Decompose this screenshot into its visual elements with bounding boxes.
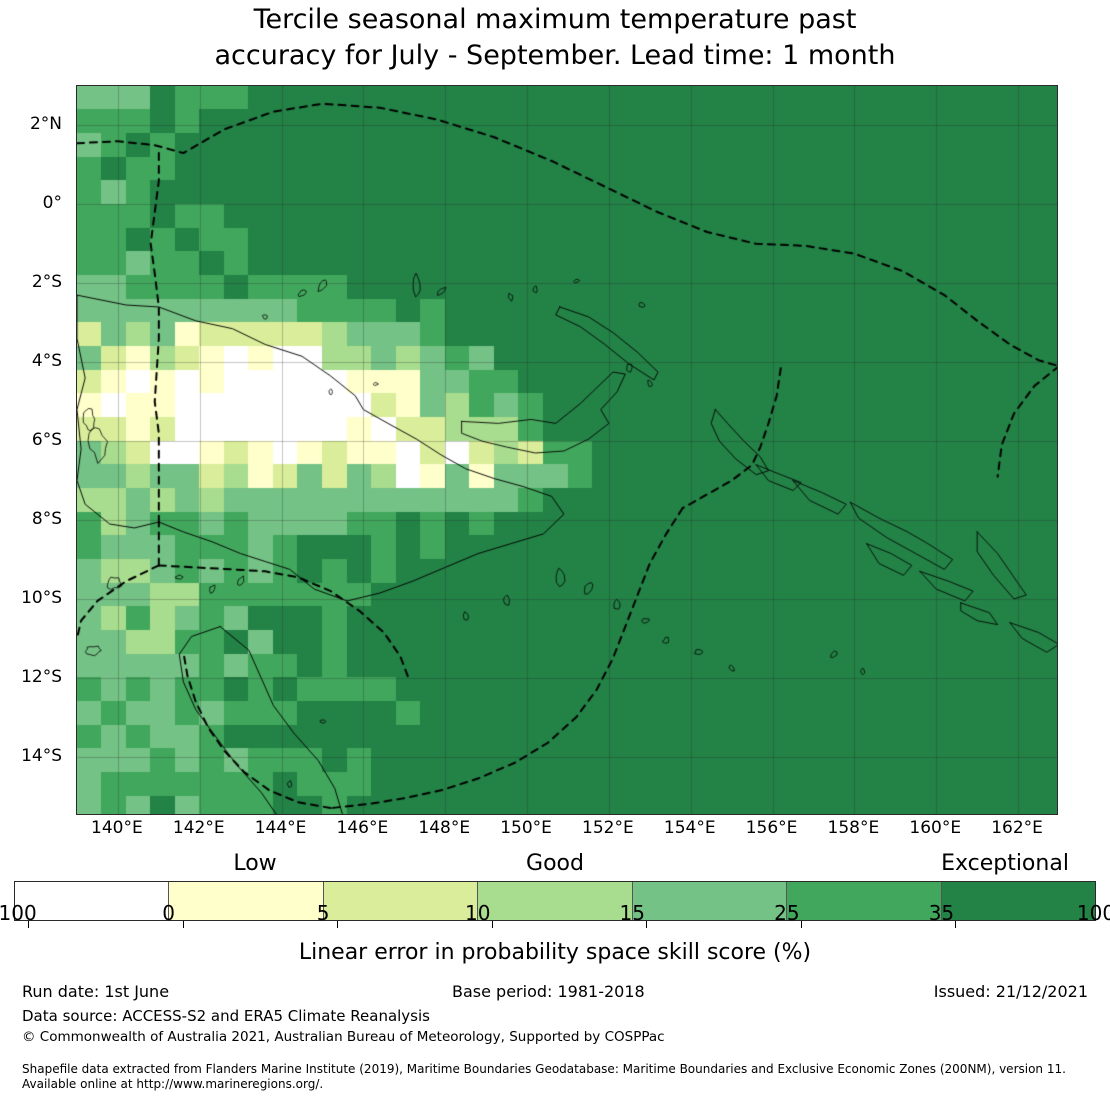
longitude-tick-label: 148°E bbox=[399, 820, 489, 837]
page-title-line-1: Tercile seasonal maximum temperature pas… bbox=[0, 2, 1110, 38]
latitude-tick-label: 0° bbox=[43, 195, 62, 212]
longitude-tick-label: 160°E bbox=[890, 820, 980, 837]
longitude-tick-label: 158°E bbox=[808, 820, 898, 837]
longitude-tick-label: 142°E bbox=[154, 820, 244, 837]
page-title: Tercile seasonal maximum temperature pas… bbox=[0, 2, 1110, 74]
colorbar-tick-label: 10 bbox=[433, 903, 523, 923]
colorbar-tick-label: 0 bbox=[124, 903, 214, 923]
latitude-tick-label: 14°S bbox=[21, 748, 62, 765]
longitude-tick-label: 152°E bbox=[563, 820, 653, 837]
map-plot-frame[interactable] bbox=[76, 85, 1058, 815]
latitude-tick-label: 6°S bbox=[32, 432, 62, 449]
longitude-tick-label: 150°E bbox=[481, 820, 571, 837]
longitude-tick-label: 140°E bbox=[72, 820, 162, 837]
latitude-tick-label: 10°S bbox=[21, 590, 62, 607]
longitude-tick-label: 154°E bbox=[645, 820, 735, 837]
colorbar-category-good: Good bbox=[445, 853, 665, 875]
colorbar-category-low: Low bbox=[145, 853, 365, 875]
footer-issued-date: Issued: 21/12/2021 bbox=[934, 983, 1088, 1001]
longitude-tick-label: 144°E bbox=[236, 820, 326, 837]
colorbar-tick-label: 35 bbox=[896, 903, 986, 923]
latitude-tick-label: 2°N bbox=[30, 116, 62, 133]
colorbar-tick-label: 15 bbox=[587, 903, 677, 923]
footer: Run date: 1st June Base period: 1981-201… bbox=[0, 975, 1110, 1110]
longitude-tick-label: 156°E bbox=[727, 820, 817, 837]
colorbar-tick-label: 100 bbox=[1051, 903, 1110, 923]
colorbar-axis-label: Linear error in probability space skill … bbox=[0, 940, 1110, 966]
map-gridlines bbox=[77, 86, 1058, 815]
footer-shapefile-attribution-line-2: Available online at http://www.marinereg… bbox=[22, 1077, 323, 1091]
longitude-tick-label: 162°E bbox=[972, 820, 1062, 837]
footer-copyright: © Commonwealth of Australia 2021, Austra… bbox=[22, 1030, 665, 1045]
colorbar-tick-label: 5 bbox=[278, 903, 368, 923]
colorbar-tick-label: 25 bbox=[742, 903, 832, 923]
colorbar-category-exceptional: Exceptional bbox=[895, 853, 1110, 875]
footer-base-period: Base period: 1981-2018 bbox=[452, 983, 645, 1001]
map-container[interactable] bbox=[76, 85, 1058, 815]
latitude-tick-label: 4°S bbox=[32, 353, 62, 370]
latitude-tick-label: 12°S bbox=[21, 669, 62, 686]
latitude-tick-label: 2°S bbox=[32, 274, 62, 291]
page-title-line-2: accuracy for July - September. Lead time… bbox=[0, 38, 1110, 74]
longitude-tick-label: 146°E bbox=[317, 820, 407, 837]
footer-run-date: Run date: 1st June bbox=[22, 983, 169, 1001]
latitude-tick-label: 8°S bbox=[32, 511, 62, 528]
footer-data-source: Data source: ACCESS-S2 and ERA5 Climate … bbox=[22, 1008, 430, 1025]
footer-shapefile-attribution-line-1: Shapefile data extracted from Flanders M… bbox=[22, 1062, 1066, 1076]
colorbar-tick-label: -100 bbox=[0, 903, 59, 923]
